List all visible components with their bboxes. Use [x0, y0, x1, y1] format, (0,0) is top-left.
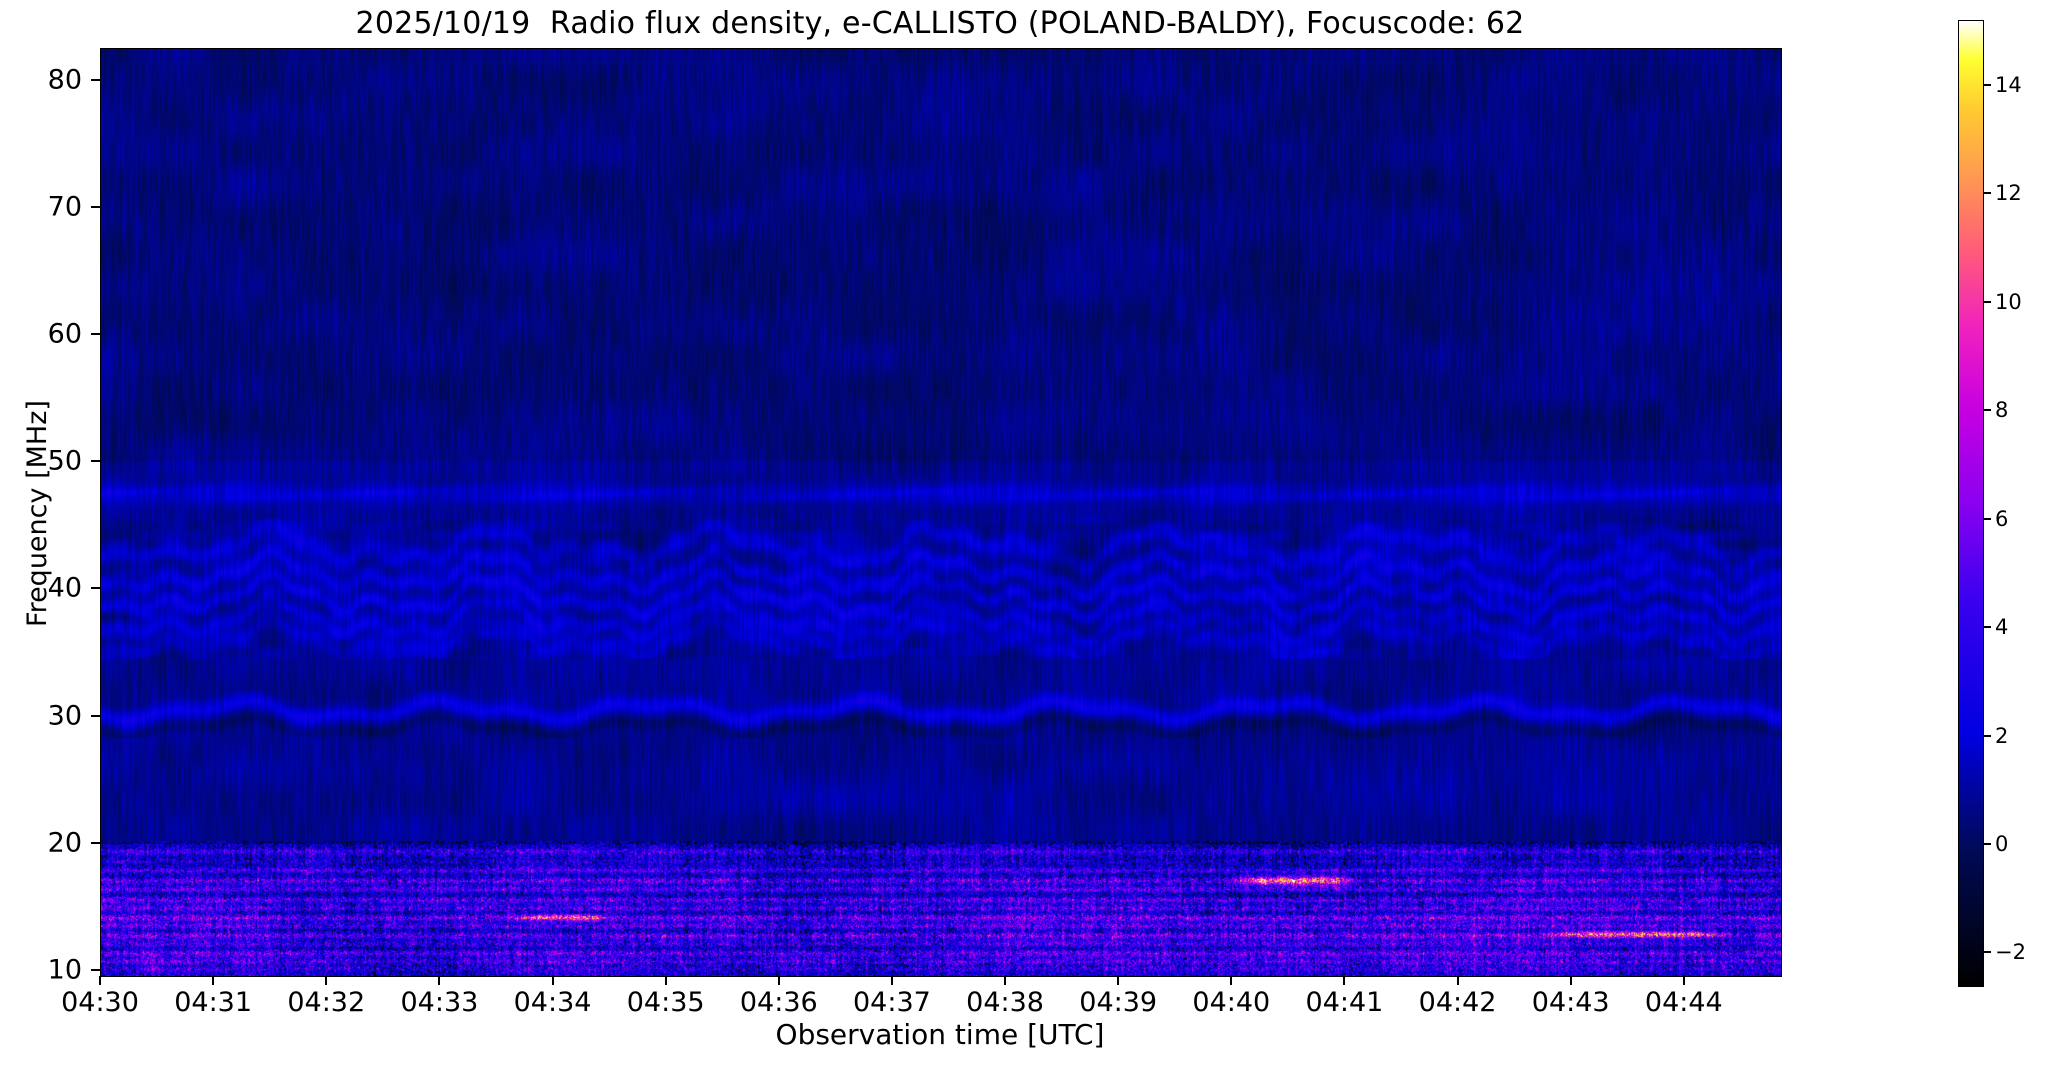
- x-tick-mark: [552, 976, 554, 985]
- y-tick-mark: [91, 969, 100, 971]
- colorbar-tick-label: 8: [1995, 398, 2008, 422]
- y-tick-label: 10: [28, 954, 82, 985]
- x-tick-label: 04:43: [1511, 987, 1631, 1018]
- y-tick-mark: [91, 460, 100, 462]
- colorbar-tick-mark: [1983, 843, 1991, 845]
- spectrogram-image: [101, 49, 1781, 976]
- x-tick-label: 04:31: [153, 987, 273, 1018]
- x-tick-label: 04:42: [1398, 987, 1518, 1018]
- x-tick-mark: [1004, 976, 1006, 985]
- x-tick-mark: [325, 976, 327, 985]
- page-title: 2025/10/19 Radio flux density, e-CALLIST…: [0, 6, 1880, 41]
- colorbar: [1958, 20, 1984, 987]
- y-tick-label: 20: [28, 827, 82, 858]
- x-tick-mark: [1683, 976, 1685, 985]
- x-tick-label: 04:30: [40, 987, 160, 1018]
- y-tick-mark: [91, 79, 100, 81]
- x-axis-label: Observation time [UTC]: [0, 1018, 1880, 1051]
- y-tick-mark: [91, 842, 100, 844]
- colorbar-tick-mark: [1983, 409, 1991, 411]
- y-tick-label: 60: [28, 319, 82, 350]
- y-tick-mark: [91, 333, 100, 335]
- colorbar-tick-label: 10: [1995, 290, 2022, 314]
- x-tick-label: 04:38: [945, 987, 1065, 1018]
- x-tick-label: 04:40: [1171, 987, 1291, 1018]
- colorbar-tick-mark: [1983, 84, 1991, 86]
- x-tick-label: 04:32: [266, 987, 386, 1018]
- y-axis-label: Frequency [MHz]: [22, 400, 53, 627]
- x-tick-label: 04:36: [719, 987, 839, 1018]
- x-tick-label: 04:41: [1284, 987, 1404, 1018]
- x-tick-mark: [212, 976, 214, 985]
- x-tick-label: 04:39: [1058, 987, 1178, 1018]
- colorbar-tick-label: 6: [1995, 507, 2008, 531]
- x-tick-mark: [99, 976, 101, 985]
- x-tick-mark: [1230, 976, 1232, 985]
- x-tick-mark: [1457, 976, 1459, 985]
- colorbar-tick-label: −2: [1995, 940, 2026, 964]
- x-tick-mark: [665, 976, 667, 985]
- x-tick-label: 04:33: [379, 987, 499, 1018]
- y-tick-label: 70: [28, 191, 82, 222]
- y-tick-label: 30: [28, 700, 82, 731]
- x-tick-mark: [778, 976, 780, 985]
- x-tick-mark: [1117, 976, 1119, 985]
- y-tick-mark: [91, 587, 100, 589]
- colorbar-tick-mark: [1983, 626, 1991, 628]
- x-tick-mark: [891, 976, 893, 985]
- colorbar-tick-label: 14: [1995, 73, 2022, 97]
- colorbar-tick-mark: [1983, 301, 1991, 303]
- colorbar-tick-mark: [1983, 518, 1991, 520]
- colorbar-gradient: [1959, 21, 1983, 986]
- y-tick-mark: [91, 206, 100, 208]
- colorbar-tick-label: 2: [1995, 724, 2008, 748]
- y-tick-mark: [91, 715, 100, 717]
- colorbar-tick-label: 0: [1995, 832, 2008, 856]
- colorbar-tick-label: 12: [1995, 181, 2022, 205]
- colorbar-tick-mark: [1983, 735, 1991, 737]
- colorbar-tick-label: 4: [1995, 615, 2008, 639]
- x-tick-mark: [438, 976, 440, 985]
- x-tick-label: 04:37: [832, 987, 952, 1018]
- x-tick-label: 04:35: [606, 987, 726, 1018]
- spectrogram-plot-area: [100, 48, 1782, 977]
- colorbar-tick-mark: [1983, 951, 1991, 953]
- x-tick-label: 04:34: [493, 987, 613, 1018]
- x-tick-mark: [1343, 976, 1345, 985]
- x-tick-label: 04:44: [1624, 987, 1744, 1018]
- colorbar-tick-mark: [1983, 192, 1991, 194]
- y-tick-label: 80: [28, 64, 82, 95]
- x-tick-mark: [1570, 976, 1572, 985]
